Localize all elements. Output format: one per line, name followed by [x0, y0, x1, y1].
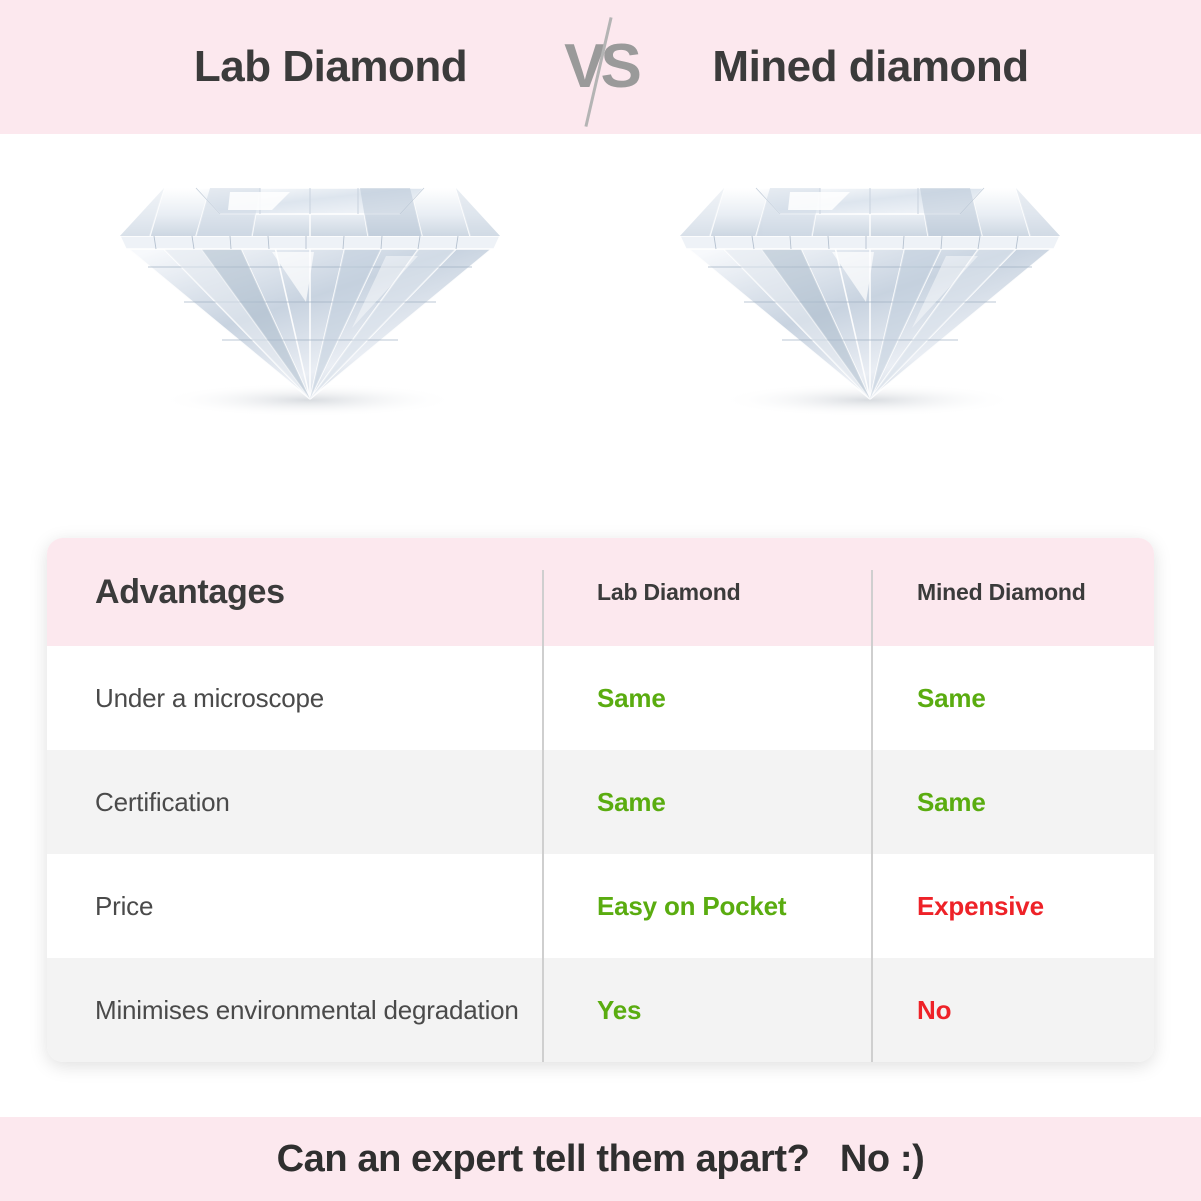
row-feature-cell: Minimises environmental degradation	[47, 993, 542, 1027]
table-header-mined-label: Mined Diamond	[917, 579, 1086, 605]
row-feature-cell: Certification	[47, 785, 542, 819]
row-feature-cell: Price	[47, 889, 542, 923]
table-header-feature-cell: Advantages	[47, 573, 542, 612]
row-feature-label: Minimises environmental degradation	[95, 995, 519, 1025]
diamond-image-area	[0, 134, 1201, 534]
row-lab-value: Easy on Pocket	[597, 891, 786, 921]
comparison-table: Advantages Lab Diamond Mined Diamond Und…	[47, 538, 1154, 1062]
column-divider-1	[542, 570, 544, 1062]
row-lab-cell: Easy on Pocket	[542, 891, 871, 922]
table-header-lab-label: Lab Diamond	[597, 579, 740, 605]
row-mined-cell: Expensive	[871, 891, 1154, 922]
infographic-page: Lab Diamond VS Mined diamond	[0, 0, 1201, 1201]
diamond-illustration-icon	[660, 152, 1080, 452]
row-mined-value: No	[917, 995, 951, 1025]
table-header-mined-cell: Mined Diamond	[871, 579, 1154, 606]
row-feature-label: Under a microscope	[95, 683, 324, 713]
header-title-lab: Lab Diamond	[116, 42, 546, 92]
row-lab-cell: Same	[542, 683, 871, 714]
lab-diamond-image	[100, 152, 520, 452]
versus-badge: VS	[546, 12, 656, 122]
table-row: Price Easy on Pocket Expensive	[47, 854, 1154, 958]
row-mined-value: Expensive	[917, 891, 1044, 921]
row-feature-label: Certification	[95, 787, 230, 817]
row-mined-cell: Same	[871, 787, 1154, 818]
diamond-illustration-icon	[100, 152, 520, 452]
table-header-lab-cell: Lab Diamond	[542, 579, 871, 606]
row-mined-cell: No	[871, 995, 1154, 1026]
table-row: Under a microscope Same Same	[47, 646, 1154, 750]
row-lab-cell: Same	[542, 787, 871, 818]
row-feature-label: Price	[95, 891, 153, 921]
row-mined-cell: Same	[871, 683, 1154, 714]
header-band: Lab Diamond VS Mined diamond	[0, 0, 1201, 134]
table-header-row: Advantages Lab Diamond Mined Diamond	[47, 538, 1154, 646]
row-feature-cell: Under a microscope	[47, 681, 542, 715]
row-mined-value: Same	[917, 787, 986, 817]
header-title-mined: Mined diamond	[656, 42, 1086, 92]
mined-diamond-image	[660, 152, 1080, 452]
footer-question: Can an expert tell them apart? No :)	[277, 1138, 925, 1181]
row-lab-value: Yes	[597, 995, 641, 1025]
row-lab-value: Same	[597, 787, 666, 817]
table-row: Minimises environmental degradation Yes …	[47, 958, 1154, 1062]
footer-band: Can an expert tell them apart? No :)	[0, 1117, 1201, 1201]
row-lab-cell: Yes	[542, 995, 871, 1026]
table-header-advantages-label: Advantages	[95, 573, 285, 611]
column-divider-2	[871, 570, 873, 1062]
table-row: Certification Same Same	[47, 750, 1154, 854]
row-lab-value: Same	[597, 683, 666, 713]
row-mined-value: Same	[917, 683, 986, 713]
